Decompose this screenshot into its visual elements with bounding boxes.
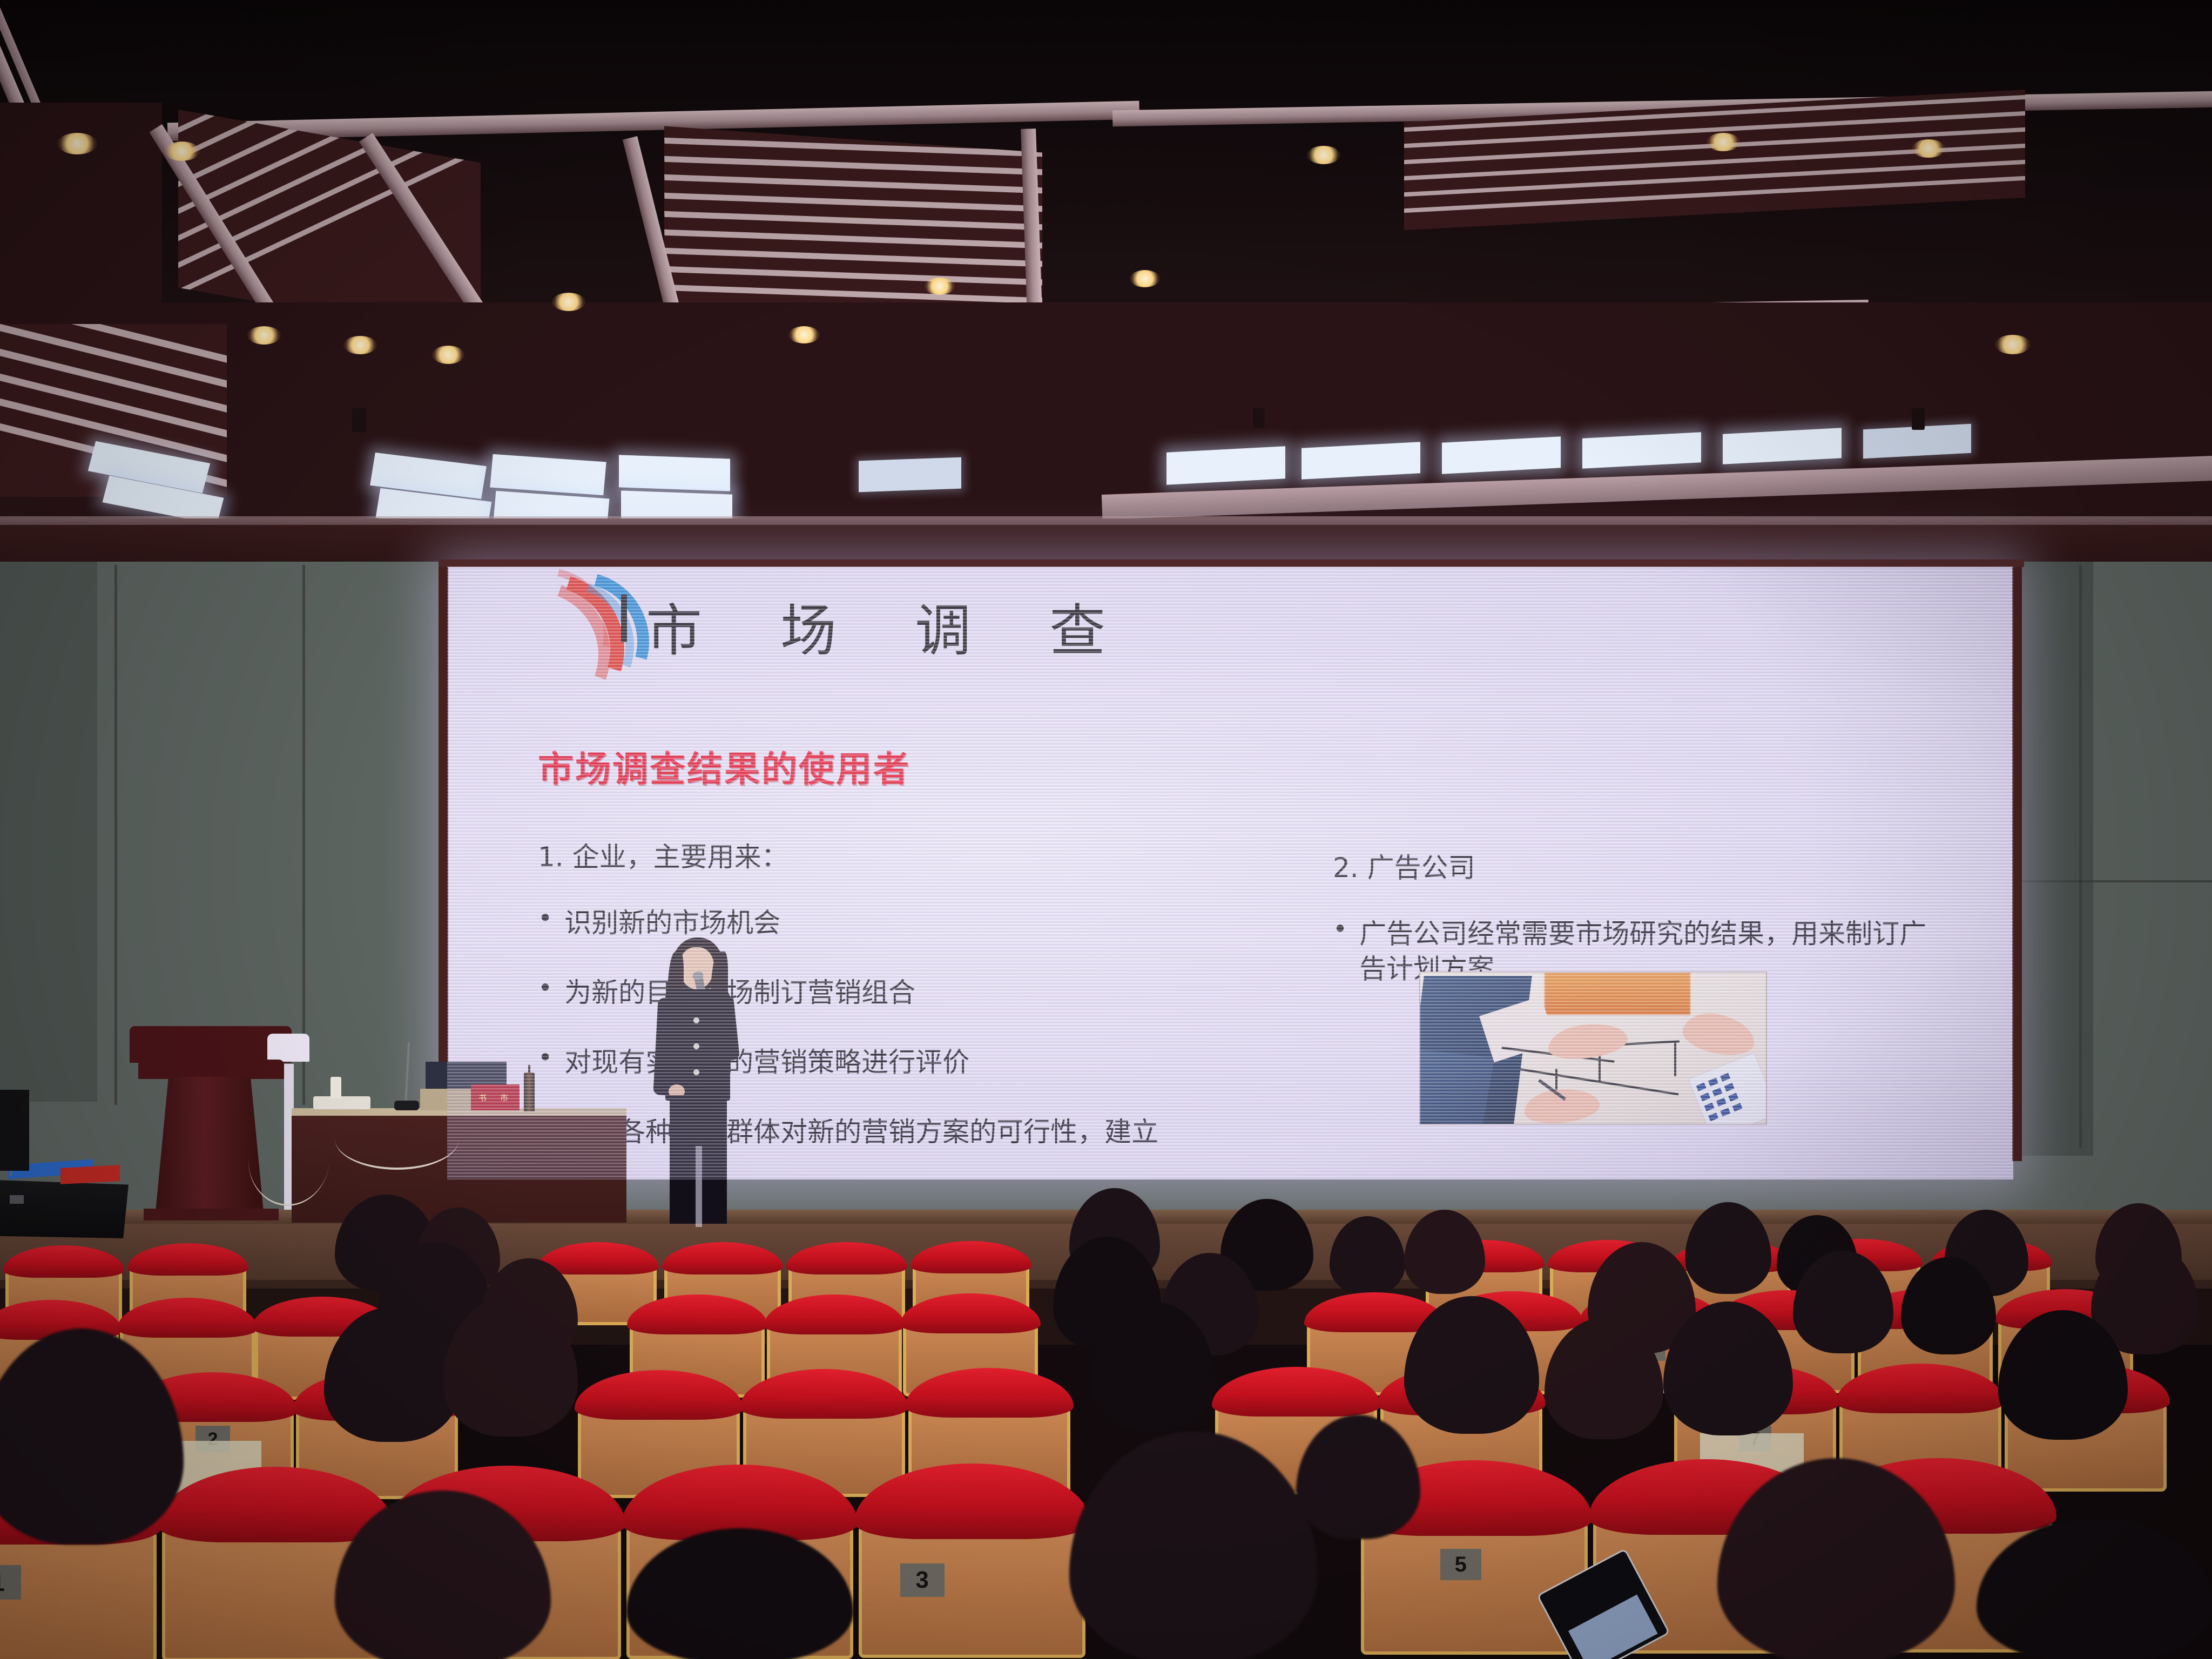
- ceiling-light-panel-12: [1442, 436, 1561, 474]
- screen-bezel-right: [2012, 562, 2022, 1161]
- downlight-5: [432, 346, 464, 364]
- downlight-3: [247, 326, 281, 345]
- seat-cushion: [911, 1241, 1032, 1273]
- bullet-dot-icon: •: [538, 975, 552, 1010]
- downlight-11: [1912, 139, 1945, 158]
- blueprint-hands-photo: [1419, 972, 1767, 1125]
- seat-cushion: [575, 1370, 743, 1420]
- nameplate-char-1: 书: [478, 1092, 487, 1103]
- downlight-10: [1707, 133, 1740, 151]
- speaker-brand-logo: [10, 1195, 24, 1204]
- bullet-dot-icon: •: [538, 906, 552, 941]
- seat-with-number-3[interactable]: 3: [859, 1469, 1085, 1658]
- ceiling-mounted-camera: [1253, 408, 1265, 428]
- ceiling-light-panel-14: [1723, 428, 1842, 464]
- podium-top-tilt: [267, 1034, 309, 1062]
- ceiling-mounted-speaker-left: [352, 408, 366, 432]
- seat-cushion: [158, 1467, 394, 1542]
- downlight-12: [1995, 335, 2031, 354]
- podium-column: [156, 1077, 264, 1212]
- seat-cushion: [3, 1245, 125, 1278]
- seat-number-plate: 1: [0, 1565, 21, 1600]
- seat-number-plate: 5: [1440, 1549, 1481, 1580]
- nameplate-char-2: 市: [500, 1092, 508, 1103]
- presenter-jacket-button-1: [693, 1017, 699, 1023]
- power-adapter: [331, 1077, 341, 1098]
- presenter-jacket-button-3: [693, 1069, 699, 1075]
- left-bullet-1: • 识别新的市场机会: [538, 906, 1235, 941]
- presenter: [646, 938, 748, 1224]
- seat-cushion: [740, 1369, 908, 1419]
- downlight-2: [164, 141, 200, 161]
- seat-cushion: [786, 1242, 908, 1274]
- slide-left-column: 1. 企业，主要用来： • 识别新的市场机会 • 为新的目标市场制订营销组合 •…: [538, 842, 1235, 1179]
- stage-monitor-speaker: [0, 1180, 129, 1238]
- bottle-cap: [528, 1065, 530, 1074]
- ceiling-light-panel-7: [619, 455, 730, 491]
- wall-panel-seam-1: [114, 565, 117, 1105]
- slide-title-rule: [621, 595, 627, 642]
- seat-cushion: [764, 1294, 905, 1334]
- ceiling-fascia-lip: [0, 516, 2212, 525]
- red-nameplate-box: 书 市: [471, 1084, 520, 1110]
- auditorium-scene: 市 场 调 查 市场调查结果的使用者 1. 企业，主要用来： • 识别新的市场机…: [0, 0, 2212, 1659]
- slide-logo-arcs: [468, 571, 603, 706]
- downlight-6: [552, 293, 585, 311]
- screen-bezel-top: [439, 559, 2024, 567]
- seat-cushion: [854, 1464, 1090, 1539]
- ceiling-mounted-speaker-right: [1912, 408, 1925, 430]
- ceiling-light-panel-13: [1582, 432, 1701, 469]
- presenter-jacket-button-2: [693, 1043, 699, 1049]
- seat-number-plate: 3: [900, 1563, 945, 1597]
- red-cloth-on-speaker: [60, 1165, 120, 1184]
- left-bullet-2: • 为新的目标市场制订营销组合: [538, 975, 1235, 1010]
- ceiling-light-panel-9: [859, 457, 961, 493]
- podium-neck: [138, 1060, 284, 1079]
- seat-cushion: [117, 1298, 258, 1338]
- slide-subheading: 市场调查结果的使用者: [538, 740, 911, 792]
- downlight-8: [1130, 270, 1160, 287]
- ceiling-light-panel-11: [1301, 442, 1420, 480]
- slide-title: 市 场 调 查: [646, 585, 1136, 666]
- seat-cushion: [127, 1243, 249, 1276]
- seat-cushion: [1212, 1367, 1380, 1417]
- photo-blue-sleeve-lower: [1419, 1050, 1494, 1125]
- downlight-4: [343, 336, 377, 354]
- left-bullet-1-text: 识别新的市场机会: [564, 906, 1235, 941]
- wall-panel-seam-2: [302, 565, 305, 1105]
- photo-blueprint-line-4: [1674, 1042, 1676, 1076]
- seat-cushion: [905, 1368, 1074, 1418]
- left-bullet-4: • 测试各种目标群体对新的营销方案的可行性，建立: [538, 1115, 1235, 1150]
- wall-shadow-left: [0, 562, 97, 1102]
- downlight-9: [1307, 146, 1340, 164]
- left-bullet-3: • 对现有实施中的营销策略进行评价: [538, 1045, 1235, 1080]
- wall-shadow-right: [2012, 562, 2093, 1156]
- seat-cushion: [662, 1242, 784, 1274]
- bullet-dot-icon: •: [1333, 916, 1347, 987]
- downlight-1: [57, 133, 97, 154]
- photo-orange-folder: [1545, 973, 1690, 1015]
- left-column-lead: 1. 企业，主要用来：: [538, 842, 1235, 873]
- power-strip: [313, 1096, 370, 1109]
- seat-cushion: [627, 1294, 767, 1334]
- seat-cushion: [1836, 1364, 2005, 1413]
- downlight-13: [788, 326, 820, 343]
- presenter-leg-gap: [696, 1146, 702, 1227]
- water-bottle: [524, 1073, 535, 1111]
- seat-cushion: [900, 1293, 1041, 1333]
- downlight-7: [925, 278, 955, 295]
- ceiling-light-panel-10: [1166, 446, 1285, 485]
- bullet-dot-icon: •: [538, 1045, 552, 1080]
- right-column-lead: 2. 广告公司: [1333, 853, 1938, 884]
- podium-base: [144, 1209, 279, 1220]
- table-cable-1: [335, 1108, 459, 1170]
- dark-equipment-case: [0, 1090, 29, 1171]
